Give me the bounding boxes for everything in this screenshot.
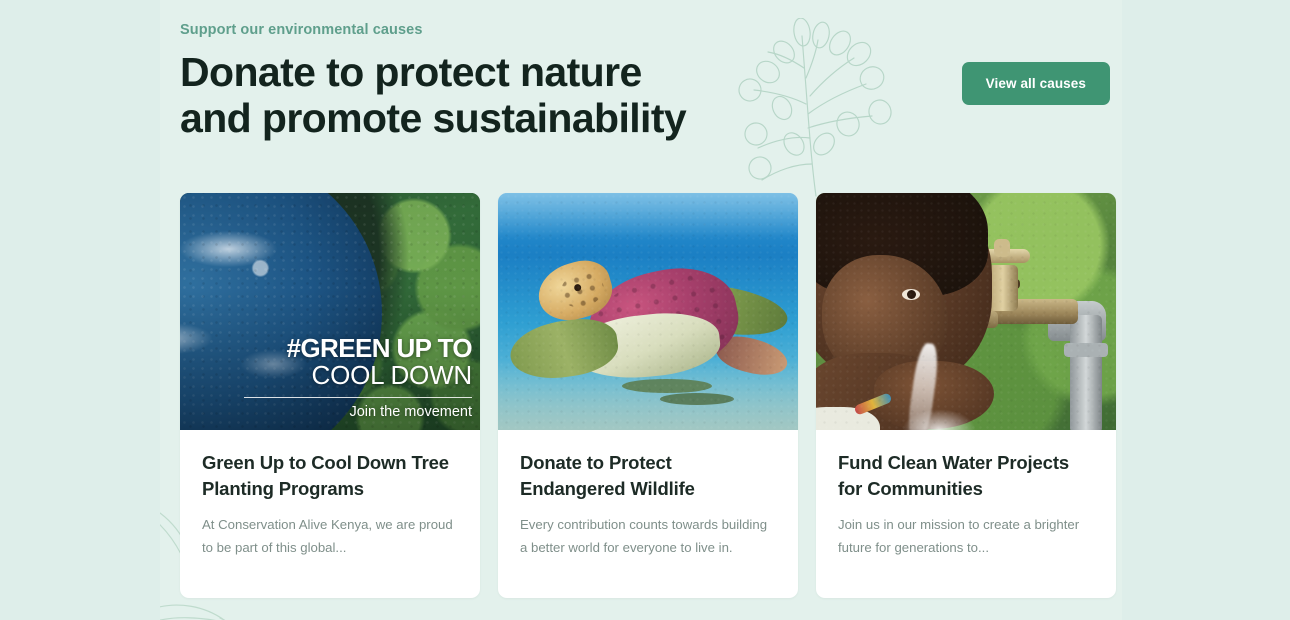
hero-eyebrow: Support our environmental causes: [180, 22, 1110, 38]
card-title: Donate to Protect Endangered Wildlife: [520, 450, 776, 501]
overlay-divider: [244, 397, 472, 398]
earth-forest-canopy-image: #GREEN UP TO COOL DOWN Join the movement: [180, 193, 480, 430]
content-panel: Support our environmental causes Donate …: [160, 0, 1122, 620]
headline-line-2: and promote sustainability: [180, 95, 686, 141]
card-title: Green Up to Cool Down Tree Planting Prog…: [202, 450, 458, 501]
card-body: Fund Clean Water Projects for Communitie…: [816, 430, 1116, 577]
cause-card[interactable]: Donate to Protect Endangered Wildlife Ev…: [498, 193, 798, 598]
card-description: Join us in our mission to create a brigh…: [838, 514, 1094, 559]
sea-turtle-underwater-image: [498, 193, 798, 430]
card-body: Green Up to Cool Down Tree Planting Prog…: [180, 430, 480, 577]
card-body: Donate to Protect Endangered Wildlife Ev…: [498, 430, 798, 577]
overlay-line-3: Join the movement: [244, 404, 472, 420]
headline-line-1: Donate to protect nature: [180, 49, 642, 95]
card-description: At Conservation Alive Kenya, we are prou…: [202, 514, 458, 559]
view-all-causes-button[interactable]: View all causes: [962, 62, 1110, 105]
child-drinking-tap-water-image: [816, 193, 1116, 430]
page-title: Donate to protect nature and promote sus…: [180, 50, 700, 142]
cause-card-list: #GREEN UP TO COOL DOWN Join the movement…: [180, 193, 1116, 598]
cause-card[interactable]: Fund Clean Water Projects for Communitie…: [816, 193, 1116, 598]
cause-card[interactable]: #GREEN UP TO COOL DOWN Join the movement…: [180, 193, 480, 598]
page-root: Support our environmental causes Donate …: [0, 0, 1290, 620]
overlay-line-2: COOL DOWN: [244, 361, 472, 390]
overlay-line-1: #GREEN UP TO: [244, 335, 472, 362]
card-title: Fund Clean Water Projects for Communitie…: [838, 450, 1094, 501]
image-overlay-caption: #GREEN UP TO COOL DOWN Join the movement: [244, 335, 472, 420]
card-description: Every contribution counts towards buildi…: [520, 514, 776, 559]
hero-header: Support our environmental causes Donate …: [180, 22, 1110, 142]
